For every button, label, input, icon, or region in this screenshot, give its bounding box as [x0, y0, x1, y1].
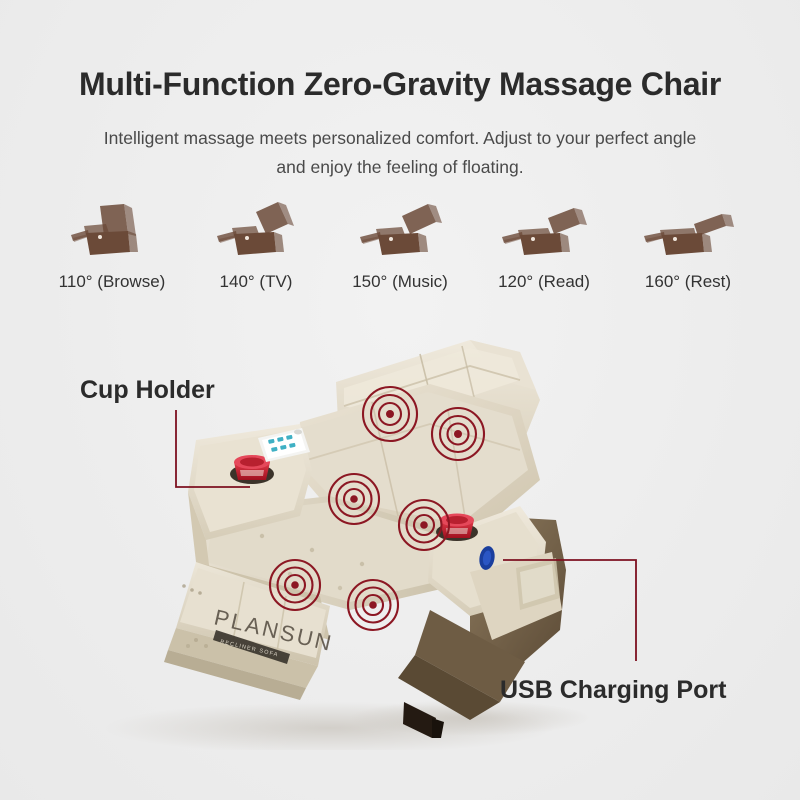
- callout-usb-charging-port-label: USB Charging Port: [500, 676, 726, 705]
- angle-preset-browse[interactable]: 110° (Browse): [40, 200, 184, 292]
- angle-preset-row: 110° (Browse) 140° (TV): [40, 200, 760, 305]
- angle-preset-label: 140° (TV): [220, 272, 293, 292]
- angle-preset-tv[interactable]: 140° (TV): [184, 200, 328, 292]
- angle-preset-label: 120° (Read): [498, 272, 590, 292]
- product-infographic: Multi-Function Zero-Gravity Massage Chai…: [0, 0, 800, 800]
- subtitle-line-1: Intelligent massage meets personalized c…: [104, 128, 649, 148]
- page-subtitle: Intelligent massage meets personalized c…: [100, 124, 700, 182]
- callout-cup-holder-label: Cup Holder: [80, 376, 215, 405]
- angle-preset-label: 110° (Browse): [59, 272, 166, 292]
- angle-preset-rest[interactable]: 160° (Rest): [616, 200, 760, 292]
- page-title: Multi-Function Zero-Gravity Massage Chai…: [0, 66, 800, 103]
- angle-preset-label: 150° (Music): [352, 272, 448, 292]
- recliner-150-icon: [350, 200, 450, 262]
- angle-preset-read[interactable]: 120° (Read): [472, 200, 616, 292]
- angle-preset-label: 160° (Rest): [645, 272, 731, 292]
- recliner-120-icon: [494, 200, 594, 262]
- angle-preset-music[interactable]: 150° (Music): [328, 200, 472, 292]
- recliner-110-icon: [62, 200, 162, 262]
- recliner-160-icon: [638, 200, 738, 262]
- recliner-140-icon: [206, 200, 306, 262]
